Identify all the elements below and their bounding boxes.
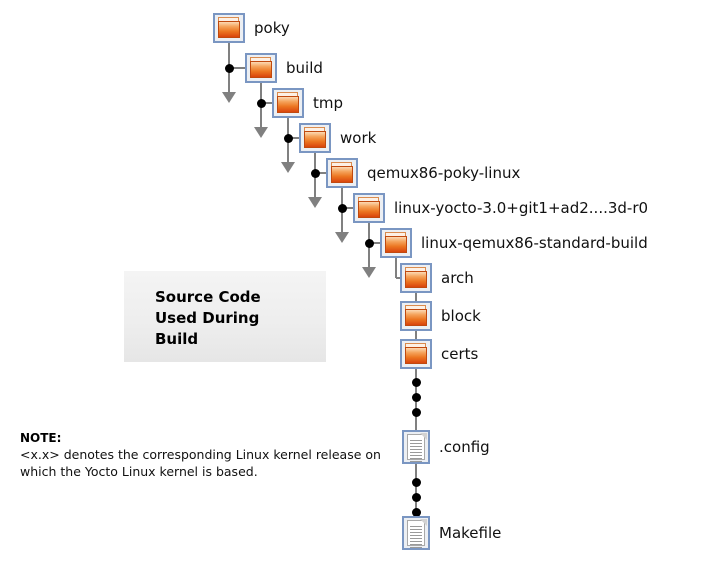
tree-node-label: tmp xyxy=(313,96,343,111)
tree-node-config[interactable]: .config xyxy=(402,430,490,464)
folder-icon xyxy=(326,158,358,188)
tree-node-label: certs xyxy=(441,347,478,362)
tree-node-label: block xyxy=(441,309,481,324)
connector-line xyxy=(415,293,417,301)
tree-node-tmp[interactable]: tmp xyxy=(272,88,343,118)
document-icon xyxy=(402,430,430,464)
junction-dot xyxy=(284,134,293,143)
junction-dot xyxy=(412,408,421,417)
junction-dot xyxy=(257,99,266,108)
junction-dot xyxy=(338,204,347,213)
note-heading: NOTE: xyxy=(20,430,400,446)
folder-icon xyxy=(400,301,432,331)
junction-dot xyxy=(412,378,421,387)
tree-node-label: Makefile xyxy=(439,526,501,541)
folder-icon xyxy=(380,228,412,258)
arrow-head xyxy=(335,232,349,243)
tree-node-label: .config xyxy=(439,440,490,455)
junction-dot xyxy=(311,169,320,178)
tree-node-build[interactable]: build xyxy=(245,53,323,83)
tree-node-block[interactable]: block xyxy=(400,301,481,331)
tree-node-certs[interactable]: certs xyxy=(400,339,478,369)
tree-node-label: linux-qemux86-standard-build xyxy=(421,236,648,251)
tree-node-arch[interactable]: arch xyxy=(400,263,474,293)
tree-node-label: poky xyxy=(254,21,290,36)
tree-node-label: arch xyxy=(441,271,474,286)
tree-node-label: qemux86-poky-linux xyxy=(367,166,520,181)
connector-line xyxy=(415,331,417,339)
folder-icon xyxy=(213,13,245,43)
tree-node-work[interactable]: work xyxy=(299,123,376,153)
arrow-head xyxy=(222,92,236,103)
tree-node-linux-yocto[interactable]: linux-yocto-3.0+git1+ad2....3d-r0 xyxy=(353,193,648,223)
arrow-head xyxy=(362,267,376,278)
folder-icon xyxy=(400,339,432,369)
tree-node-label: linux-yocto-3.0+git1+ad2....3d-r0 xyxy=(394,201,648,216)
junction-dot xyxy=(365,239,374,248)
tree-node-poky[interactable]: poky xyxy=(213,13,290,43)
tree-node-label: build xyxy=(286,61,323,76)
arrow-head xyxy=(281,162,295,173)
diagram-canvas: poky build tmp work qemux86-poky-linux l… xyxy=(0,0,705,581)
folder-icon xyxy=(272,88,304,118)
arrow-head xyxy=(254,127,268,138)
folder-icon xyxy=(245,53,277,83)
folder-icon xyxy=(299,123,331,153)
tree-node-linux-qemux86-standard-build[interactable]: linux-qemux86-standard-build xyxy=(380,228,648,258)
tree-node-qemux86-poky-linux[interactable]: qemux86-poky-linux xyxy=(326,158,520,188)
junction-dot xyxy=(412,393,421,402)
note-body: <x.x> denotes the corresponding Linux ke… xyxy=(20,446,400,480)
junction-dot xyxy=(412,493,421,502)
junction-dot xyxy=(225,64,234,73)
connector-line xyxy=(395,258,397,278)
note-block: NOTE: <x.x> denotes the corresponding Li… xyxy=(20,430,400,480)
tree-node-label: work xyxy=(340,131,376,146)
document-icon xyxy=(402,516,430,550)
folder-icon xyxy=(400,263,432,293)
arrow-head xyxy=(308,197,322,208)
folder-icon xyxy=(353,193,385,223)
source-code-callout-text: Source Code Used During Build xyxy=(155,287,261,350)
tree-node-makefile[interactable]: Makefile xyxy=(402,516,501,550)
junction-dot xyxy=(412,478,421,487)
source-code-callout: Source Code Used During Build xyxy=(124,271,326,362)
